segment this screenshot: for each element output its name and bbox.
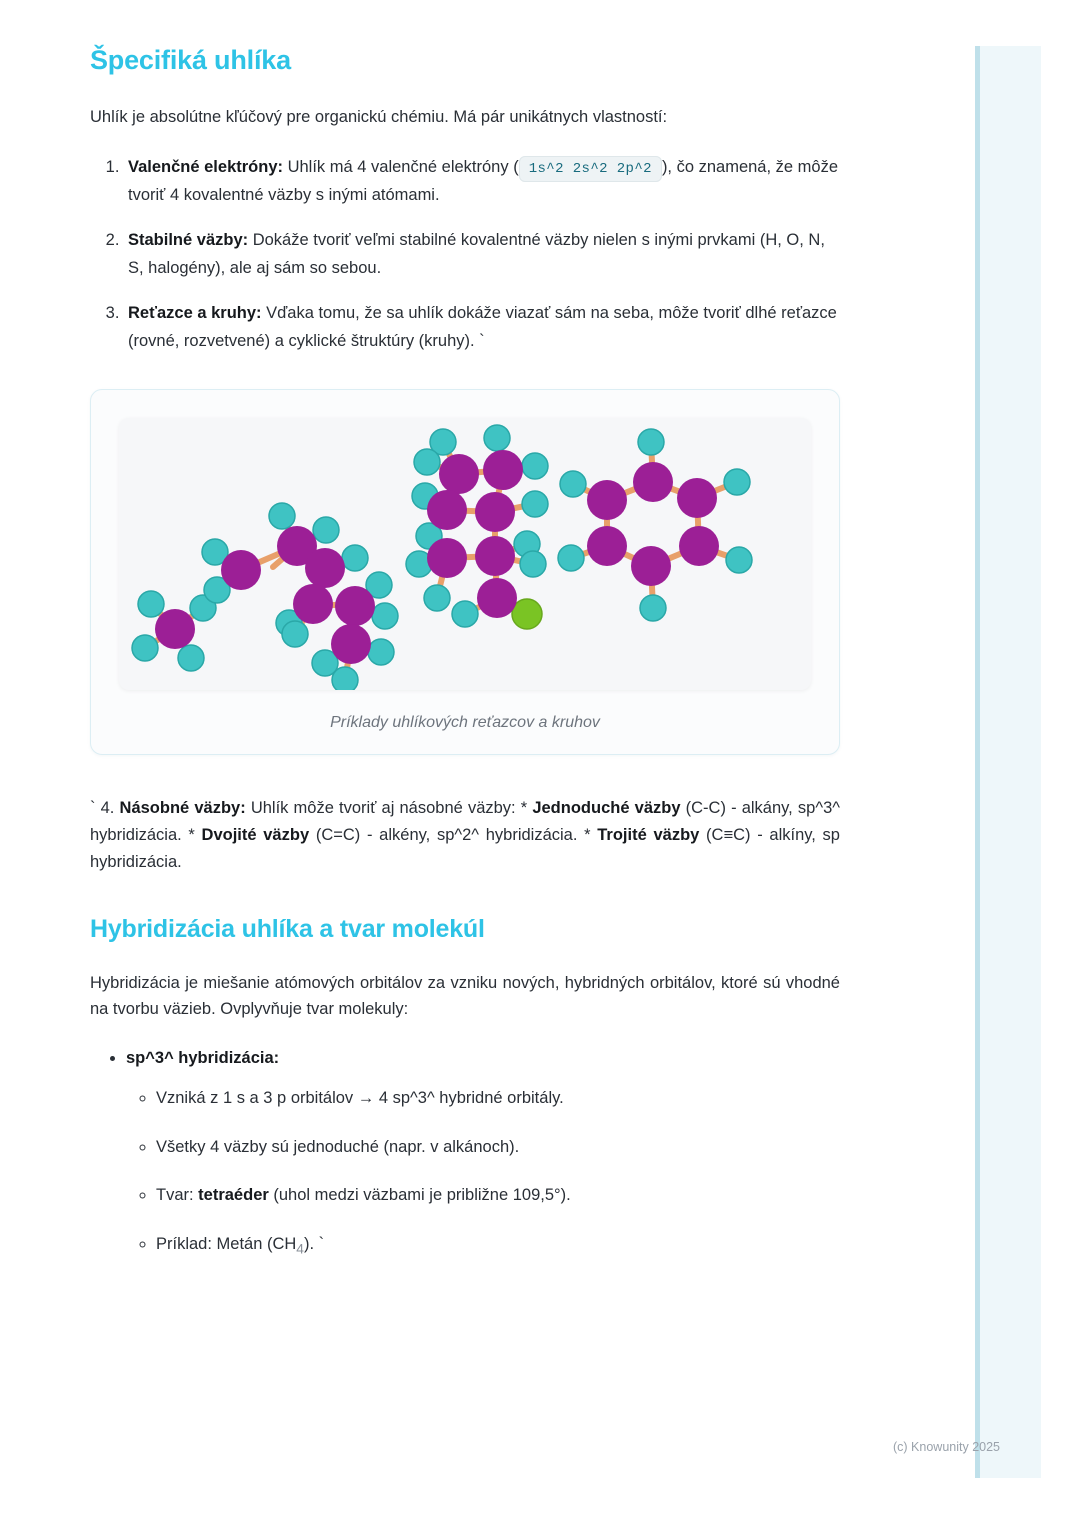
paragraph-label-1: Násobné väzby: xyxy=(120,799,246,817)
hybridization-list: sp^3^ hybridizácia: Vzniká z 1 s a 3 p o… xyxy=(90,1045,840,1260)
oxygen-atom xyxy=(512,599,542,629)
multiple-bonds-paragraph: ` 4. Násobné väzby: Uhlík môže tvoriť aj… xyxy=(90,795,840,875)
list-item: Stabilné väzby: Dokáže tvoriť veľmi stab… xyxy=(124,226,840,283)
sub-item-bold: tetraéder xyxy=(198,1186,269,1204)
paragraph-prefix: ` 4. xyxy=(90,799,120,817)
list-item: sp^3^ hybridizácia: Vzniká z 1 s a 3 p o… xyxy=(126,1045,840,1260)
list-item: Tvar: tetraéder (uhol medzi väzbami je p… xyxy=(156,1182,840,1208)
hybridization-paragraph: Hybridizácia je miešanie atómových orbit… xyxy=(90,970,840,1023)
sub-item-text-before: Tvar: xyxy=(156,1186,198,1204)
methane-subscript: 4 xyxy=(296,1241,304,1256)
sub-item-text-after: ). ` xyxy=(304,1235,324,1253)
page-title: Špecifiká uhlíka xyxy=(90,44,840,76)
figure-caption: Príklady uhlíkových reťazcov a kruhov xyxy=(119,714,811,732)
right-side-panel xyxy=(975,46,1041,1478)
list-item: Valenčné elektróny: Uhlík má 4 valenčné … xyxy=(124,153,840,210)
carbon-atom-group xyxy=(155,450,719,664)
list-item: Vzniká z 1 s a 3 p orbitálov → 4 sp^3^ h… xyxy=(156,1085,840,1111)
list-item: Všetky 4 väzby sú jednoduché (napr. v al… xyxy=(156,1134,840,1160)
list-item-label: Stabilné väzby: xyxy=(128,231,248,249)
footer-copyright: (c) Knowunity 2025 xyxy=(893,1440,1000,1454)
hybridization-heading: Hybridizácia uhlíka a tvar molekúl xyxy=(90,914,840,944)
list-item-label: Reťazce a kruhy: xyxy=(128,304,262,322)
carbon-properties-list: Valenčné elektróny: Uhlík má 4 valenčné … xyxy=(90,153,840,355)
intro-paragraph: Uhlík je absolútne kľúčový pre organickú… xyxy=(90,104,840,131)
paragraph-label-2: Jednoduché väzby xyxy=(532,799,680,817)
electron-configuration-code: 1s^2 2s^2 2p^2 xyxy=(519,156,662,182)
carbon-chains-and-rings-illustration xyxy=(119,418,811,690)
hybridization-sub-list: Vzniká z 1 s a 3 p orbitálov → 4 sp^3^ h… xyxy=(126,1085,840,1259)
sub-item-text: Vzniká z 1 s a 3 p orbitálov → 4 sp^3^ h… xyxy=(156,1089,564,1107)
sub-item-text-after: (uhol medzi väzbami je približne 109,5°)… xyxy=(269,1186,571,1204)
list-item-text-before-code: Uhlík má 4 valenčné elektróny ( xyxy=(283,158,519,176)
molecule-illustration-panel xyxy=(119,418,811,690)
list-item: Reťazce a kruhy: Vďaka tomu, že sa uhlík… xyxy=(124,299,840,356)
paragraph-part-3: (C=C) - alkény, sp^2^ hybridizácia. * xyxy=(309,826,597,844)
document-page: Špecifiká uhlíka Uhlík je absolútne kľúč… xyxy=(0,0,930,1282)
hybridization-bullet-label: sp^3^ hybridizácia: xyxy=(126,1049,279,1067)
list-item: Príklad: Metán (CH4). ` xyxy=(156,1231,840,1260)
list-item-label: Valenčné elektróny: xyxy=(128,158,283,176)
sub-item-text-before: Príklad: Metán (CH xyxy=(156,1235,296,1253)
sub-item-text: Všetky 4 väzby sú jednoduché (napr. v al… xyxy=(156,1138,519,1156)
paragraph-part-1: Uhlík môže tvoriť aj násobné väzby: * xyxy=(246,799,533,817)
paragraph-label-4: Trojité väzby xyxy=(597,826,699,844)
figure-card: Príklady uhlíkových reťazcov a kruhov xyxy=(90,389,840,755)
paragraph-label-3: Dvojité väzby xyxy=(202,826,310,844)
